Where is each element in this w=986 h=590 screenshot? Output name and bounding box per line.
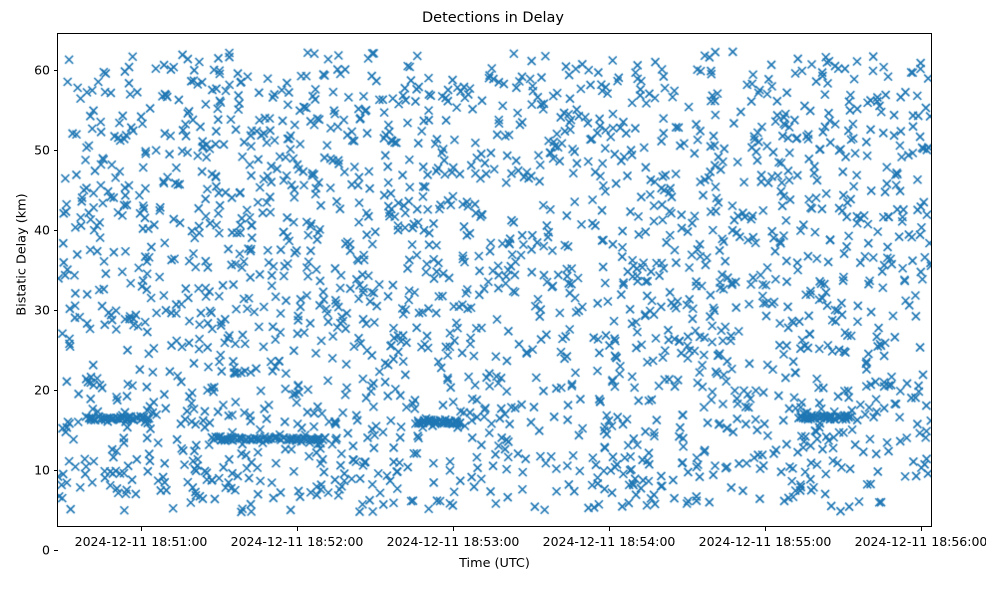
- x-tick-label: 2024-12-11 18:53:00: [387, 534, 520, 549]
- y-tick-mark: [54, 230, 58, 231]
- x-tick-label: 2024-12-11 18:52:00: [231, 534, 364, 549]
- y-tick-label: 40: [34, 223, 50, 238]
- x-tick-label: 2024-12-11 18:56:00: [855, 534, 986, 549]
- x-axis-label: Time (UTC): [57, 556, 932, 571]
- y-tick-mark: [54, 470, 58, 471]
- y-tick-label: 0: [42, 543, 50, 558]
- matplotlib-figure: Detections in Delay 0102030405060 2024-1…: [0, 0, 986, 590]
- x-tick-mark: [141, 527, 142, 531]
- x-tick-mark: [453, 527, 454, 531]
- y-tick-label: 10: [34, 463, 50, 478]
- x-tick-label: 2024-12-11 18:54:00: [543, 534, 676, 549]
- x-tick-mark: [297, 527, 298, 531]
- x-tick-mark: [609, 527, 610, 531]
- x-tick-mark: [921, 527, 922, 531]
- x-tick-mark: [765, 527, 766, 531]
- x-tick-label: 2024-12-11 18:55:00: [699, 534, 832, 549]
- y-tick-label: 60: [34, 63, 50, 78]
- y-tick-mark: [54, 70, 58, 71]
- x-tick-label: 2024-12-11 18:51:00: [75, 534, 208, 549]
- plot-axes: [57, 33, 932, 527]
- y-tick-label: 50: [34, 143, 50, 158]
- y-tick-label: 30: [34, 303, 50, 318]
- y-tick-mark: [54, 310, 58, 311]
- page-title: Detections in Delay: [0, 9, 986, 27]
- y-axis-label: Bistatic Delay (km): [15, 125, 30, 385]
- y-tick-label: 20: [34, 383, 50, 398]
- y-tick-mark: [54, 150, 58, 151]
- scatter-plot-canvas: [58, 34, 931, 526]
- y-tick-mark: [54, 550, 58, 551]
- y-tick-mark: [54, 390, 58, 391]
